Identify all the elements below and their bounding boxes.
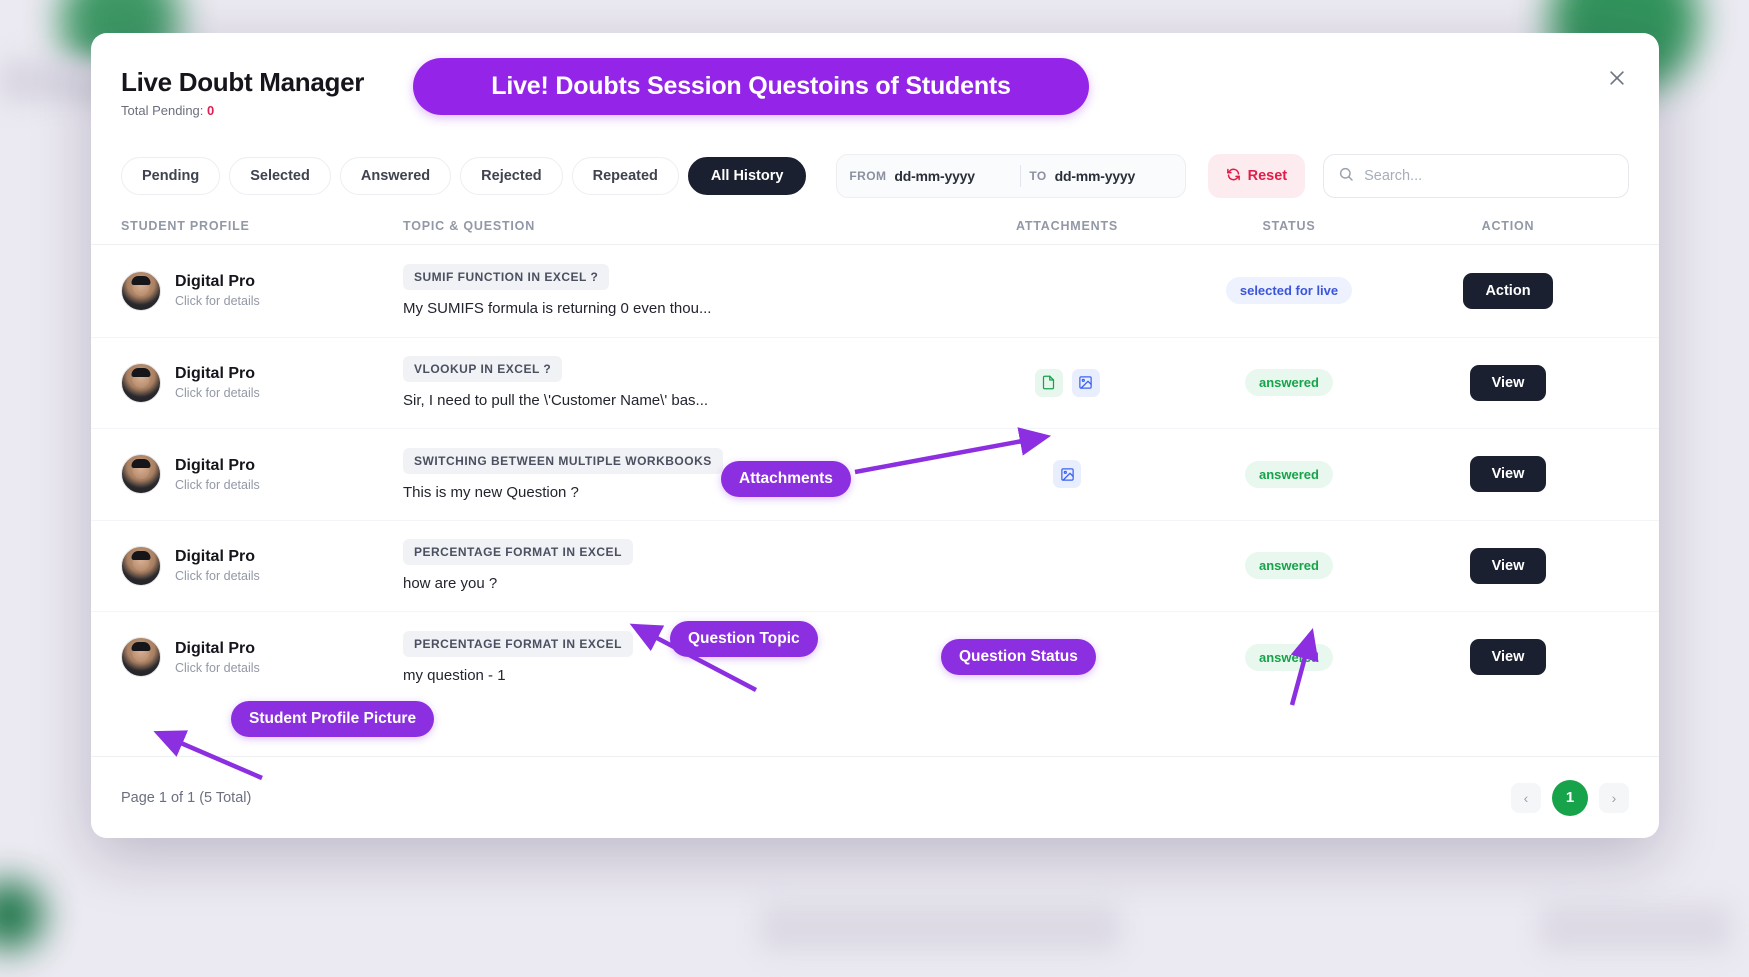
- search-input[interactable]: [1364, 168, 1614, 184]
- table-row[interactable]: Digital Pro Click for details PERCENTAGE…: [91, 611, 1659, 703]
- student-profile-cell[interactable]: Digital Pro Click for details: [121, 637, 403, 677]
- image-icon[interactable]: [1053, 460, 1081, 488]
- page-info: Page 1 of 1 (5 Total): [121, 790, 251, 806]
- table-row[interactable]: Digital Pro Click for details PERCENTAGE…: [91, 520, 1659, 612]
- status-badge: answered: [1245, 644, 1333, 671]
- column-header-attachments: ATTACHMENTS: [943, 219, 1191, 233]
- avatar[interactable]: [121, 271, 161, 311]
- close-button[interactable]: [1599, 61, 1635, 97]
- status-badge: selected for live: [1226, 277, 1352, 304]
- action-cell: Action: [1387, 273, 1629, 309]
- status-cell: answered: [1191, 552, 1387, 579]
- date-from-label: FROM: [849, 169, 886, 183]
- refresh-icon: [1226, 167, 1241, 186]
- action-cell: View: [1387, 548, 1629, 584]
- attachments-cell: [943, 369, 1191, 397]
- next-page-button[interactable]: ›: [1599, 783, 1629, 813]
- student-details-hint: Click for details: [175, 386, 260, 400]
- tab-all-history[interactable]: All History: [688, 157, 807, 195]
- filter-tabs: Pending Selected Answered Rejected Repea…: [121, 157, 806, 195]
- table-header-row: STUDENT PROFILE TOPIC & QUESTION ATTACHM…: [91, 207, 1659, 245]
- status-cell: answered: [1191, 644, 1387, 671]
- student-name: Digital Pro: [175, 640, 260, 658]
- question-text: This is my new Question ?: [403, 484, 943, 501]
- question-topic-tag: PERCENTAGE FORMAT IN EXCEL: [403, 539, 633, 565]
- student-name: Digital Pro: [175, 365, 260, 383]
- date-to-label: TO: [1029, 169, 1046, 183]
- avatar[interactable]: [121, 363, 161, 403]
- file-icon[interactable]: [1035, 369, 1063, 397]
- reset-button-label: Reset: [1248, 168, 1288, 184]
- student-details-hint: Click for details: [175, 569, 260, 583]
- backdrop-blur-bar: [1540, 905, 1730, 951]
- question-topic-tag: SUMIF FUNCTION IN EXCEL ?: [403, 264, 609, 290]
- row-action-button[interactable]: View: [1470, 639, 1547, 675]
- filter-toolbar: Pending Selected Answered Rejected Repea…: [91, 145, 1659, 207]
- live-session-banner: Live! Doubts Session Questoins of Studen…: [413, 58, 1089, 115]
- student-name: Digital Pro: [175, 457, 260, 475]
- topic-question-cell: PERCENTAGE FORMAT IN EXCEL how are you ?: [403, 539, 943, 592]
- modal-header: Live Doubt Manager Total Pending: 0 Live…: [91, 33, 1659, 145]
- student-details-hint: Click for details: [175, 661, 260, 675]
- prev-page-button[interactable]: ‹: [1511, 783, 1541, 813]
- date-range-filter: FROM TO: [836, 154, 1185, 198]
- student-profile-cell[interactable]: Digital Pro Click for details: [121, 363, 403, 403]
- student-details-hint: Click for details: [175, 478, 260, 492]
- avatar[interactable]: [121, 546, 161, 586]
- tab-answered[interactable]: Answered: [340, 157, 451, 195]
- table-row[interactable]: Digital Pro Click for details SUMIF FUNC…: [91, 245, 1659, 337]
- action-cell: View: [1387, 639, 1629, 675]
- student-name: Digital Pro: [175, 548, 260, 566]
- search-box[interactable]: [1323, 154, 1629, 198]
- total-pending-label: Total Pending:: [121, 103, 203, 118]
- backdrop-blur-bar: [760, 905, 1120, 951]
- total-pending-count: 0: [207, 103, 214, 118]
- attachments-cell: [943, 460, 1191, 488]
- reset-button[interactable]: Reset: [1208, 154, 1306, 198]
- column-header-status: STATUS: [1191, 219, 1387, 233]
- live-doubt-manager-modal: Live Doubt Manager Total Pending: 0 Live…: [91, 33, 1659, 838]
- tab-pending[interactable]: Pending: [121, 157, 220, 195]
- live-session-banner-text: Live! Doubts Session Questoins of Studen…: [491, 72, 1010, 101]
- action-cell: View: [1387, 365, 1629, 401]
- status-cell: selected for live: [1191, 277, 1387, 304]
- tab-rejected[interactable]: Rejected: [460, 157, 562, 195]
- backdrop-blob: [0, 880, 44, 950]
- table-row[interactable]: Digital Pro Click for details SWITCHING …: [91, 428, 1659, 520]
- topic-question-cell: VLOOKUP IN EXCEL ? Sir, I need to pull t…: [403, 356, 943, 409]
- student-name: Digital Pro: [175, 273, 260, 291]
- close-icon: [1607, 68, 1627, 91]
- avatar[interactable]: [121, 637, 161, 677]
- row-action-button[interactable]: Action: [1463, 273, 1552, 309]
- topic-question-cell: SUMIF FUNCTION IN EXCEL ? My SUMIFS form…: [403, 264, 943, 317]
- table-row[interactable]: Digital Pro Click for details VLOOKUP IN…: [91, 337, 1659, 429]
- question-topic-tag: SWITCHING BETWEEN MULTIPLE WORKBOOKS: [403, 448, 723, 474]
- column-header-student-profile: STUDENT PROFILE: [121, 219, 403, 233]
- page-title: Live Doubt Manager: [121, 67, 364, 98]
- column-header-topic-question: TOPIC & QUESTION: [403, 219, 943, 233]
- date-divider: [1020, 165, 1021, 187]
- title-block: Live Doubt Manager Total Pending: 0: [121, 67, 364, 118]
- status-badge: answered: [1245, 552, 1333, 579]
- question-text: Sir, I need to pull the \'Customer Name\…: [403, 392, 943, 409]
- tab-repeated[interactable]: Repeated: [572, 157, 679, 195]
- topic-question-cell: SWITCHING BETWEEN MULTIPLE WORKBOOKS Thi…: [403, 448, 943, 501]
- status-cell: answered: [1191, 369, 1387, 396]
- column-header-action: ACTION: [1387, 219, 1629, 233]
- question-topic-tag: PERCENTAGE FORMAT IN EXCEL: [403, 631, 633, 657]
- row-action-button[interactable]: View: [1470, 456, 1547, 492]
- page-number-button[interactable]: 1: [1552, 780, 1588, 816]
- question-text: how are you ?: [403, 575, 943, 592]
- student-profile-cell[interactable]: Digital Pro Click for details: [121, 454, 403, 494]
- image-icon[interactable]: [1072, 369, 1100, 397]
- date-from-input[interactable]: [894, 168, 1012, 184]
- avatar[interactable]: [121, 454, 161, 494]
- status-cell: answered: [1191, 461, 1387, 488]
- date-to-input[interactable]: [1055, 168, 1173, 184]
- question-topic-tag: VLOOKUP IN EXCEL ?: [403, 356, 562, 382]
- total-pending: Total Pending: 0: [121, 103, 364, 118]
- student-details-hint: Click for details: [175, 294, 260, 308]
- action-cell: View: [1387, 456, 1629, 492]
- modal-footer: Page 1 of 1 (5 Total) ‹ 1 ›: [91, 756, 1659, 838]
- question-text: my question - 1: [403, 667, 943, 684]
- table-body: Digital Pro Click for details SUMIF FUNC…: [91, 245, 1659, 756]
- status-badge: answered: [1245, 461, 1333, 488]
- row-action-button[interactable]: View: [1470, 365, 1547, 401]
- row-action-button[interactable]: View: [1470, 548, 1547, 584]
- pagination: ‹ 1 ›: [1511, 780, 1629, 816]
- tab-selected[interactable]: Selected: [229, 157, 331, 195]
- student-profile-cell[interactable]: Digital Pro Click for details: [121, 546, 403, 586]
- topic-question-cell: PERCENTAGE FORMAT IN EXCEL my question -…: [403, 631, 943, 684]
- question-text: My SUMIFS formula is returning 0 even th…: [403, 300, 943, 317]
- status-badge: answered: [1245, 369, 1333, 396]
- student-profile-cell[interactable]: Digital Pro Click for details: [121, 271, 403, 311]
- search-icon: [1338, 166, 1354, 187]
